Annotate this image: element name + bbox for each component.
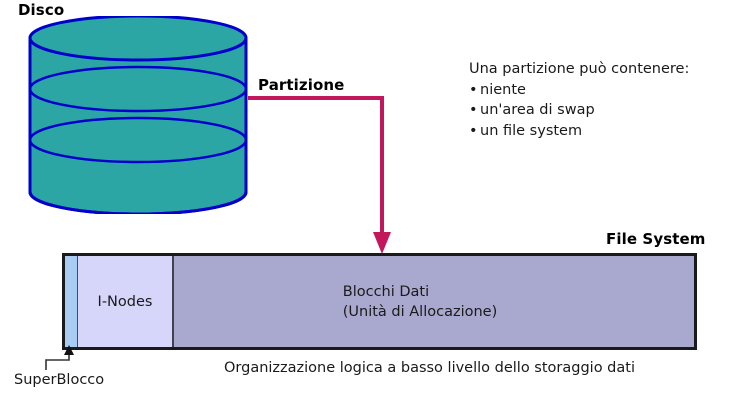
file-system-bar: I-Nodes Blocchi Dati (Unità di Allocazio… [62, 253, 697, 350]
fs-segment-inodes: I-Nodes [78, 256, 174, 347]
partition-arrow-line [248, 98, 382, 236]
cylinder-body [30, 38, 246, 214]
file-system-title: File System [606, 230, 706, 248]
partition-contents-block: Una partizione può contenere: niente un'… [469, 59, 689, 141]
superblock-leader-path [46, 353, 69, 370]
fs-segment-datablocks-label-line2: (Unità di Allocazione) [343, 302, 498, 322]
list-item: un file system [469, 121, 689, 142]
partition-contents-heading: Una partizione può contenere: [469, 59, 689, 80]
fs-segment-datablocks-label-line1: Blocchi Dati [343, 282, 498, 302]
disk-cylinder-graphic [20, 16, 256, 218]
partition-arrow-connector [248, 88, 408, 262]
bottom-caption: Organizzazione logica a basso livello de… [224, 360, 635, 376]
partition-arrow-head [373, 232, 391, 254]
fs-segment-superblock [65, 256, 78, 347]
fs-segment-datablocks: Blocchi Dati (Unità di Allocazione) [174, 256, 694, 347]
list-item: niente [469, 80, 689, 101]
fs-segment-inodes-label: I-Nodes [98, 294, 153, 310]
superblock-leader-arrowhead [64, 345, 74, 355]
superblock-callout-label: SuperBlocco [14, 372, 104, 388]
cylinder-top-platter [30, 16, 246, 60]
fs-segment-datablocks-labels: Blocchi Dati (Unità di Allocazione) [343, 282, 526, 322]
partition-contents-list: niente un'area di swap un file system [469, 80, 689, 142]
list-item: un'area di swap [469, 100, 689, 121]
